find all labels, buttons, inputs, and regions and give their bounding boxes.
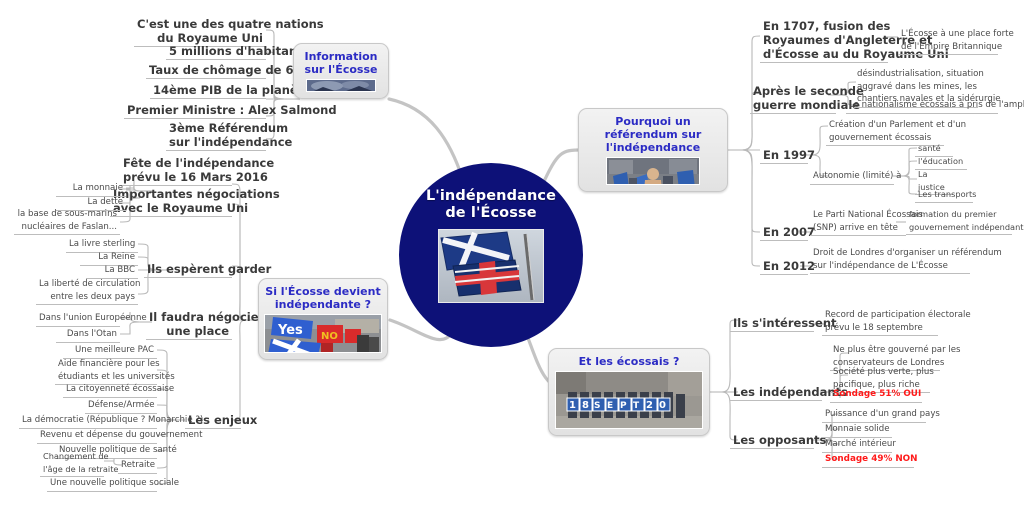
node-marche-interieur[interactable]: Marché intérieur: [822, 438, 892, 453]
yes-no-placards-photo-icon: Yes NO: [264, 314, 382, 353]
node-base-sous-marins[interactable]: la base de sous-marins nucléaires de Fas…: [14, 208, 120, 235]
topic-referendum-title: Pourquoi un référendum sur l'indépendanc…: [585, 115, 721, 154]
node-autonomie-limitee[interactable]: Autonomie (limité) à: [810, 170, 894, 185]
node-changement-age-retraite[interactable]: Changement de l'âge de la retraite: [40, 450, 104, 477]
node-citoyennete-ecossaise[interactable]: La citoyenneté écossaise: [63, 383, 157, 398]
node-les-independants[interactable]: Les indépendants: [730, 385, 822, 401]
node-defense-armee[interactable]: Défense/Armée: [85, 399, 157, 414]
node-snp-arrive-en-tete[interactable]: Le Parti National Écossais (SNP) arrive …: [810, 209, 906, 236]
mind-map-canvas: L'indépendance de l'Écosse: [0, 0, 1024, 507]
node-retraite[interactable]: Retraite: [118, 459, 157, 474]
svg-text:NO: NO: [321, 331, 338, 342]
svg-text:0: 0: [659, 400, 666, 411]
central-topic[interactable]: L'indépendance de l'Écosse: [399, 163, 583, 347]
svg-text:1: 1: [569, 400, 576, 411]
18-sept-2014-signs-photo-icon: 1 8 S E P T 2 0: [555, 371, 703, 429]
topic-information-title-text: Information sur l'Écosse: [305, 50, 378, 76]
topic-ecossais-title: Et les écossais ?: [579, 355, 680, 368]
topic-referendum-title-line2: l'indépendance: [606, 141, 700, 154]
node-la-democratie[interactable]: La démocratie (République ? Monarchie ?): [19, 414, 157, 429]
node-14eme-pib[interactable]: 14ème PIB de la planète: [150, 83, 266, 99]
node-quatre-nations[interactable]: C'est une des quatre nations du Royaume …: [134, 17, 266, 47]
node-5-millions-habitants[interactable]: 5 millions d'habitants: [166, 44, 266, 60]
node-formation-premier-gouvernement[interactable]: formation du premier gouvernement indépe…: [906, 208, 1012, 235]
node-revenu-depense[interactable]: Revenu et dépense du gouvernement: [37, 429, 157, 444]
node-3eme-referendum[interactable]: 3ème Référendum sur l'indépendance: [166, 121, 266, 151]
topic-information-sur-lecosse[interactable]: Information sur l'Écosse: [293, 43, 389, 99]
node-monnaie-solide[interactable]: Monnaie solide: [822, 423, 892, 438]
node-union-europeenne[interactable]: Dans l'union Européenne: [36, 312, 120, 327]
svg-text:E: E: [607, 401, 613, 411]
node-en-1707[interactable]: En 1707, fusion des Royaumes d'Angleterr…: [760, 19, 888, 63]
node-sondage-51-oui[interactable]: Sondage 51% OUI: [830, 388, 922, 403]
topic-ecossais-title-text: Et les écossais ?: [579, 355, 680, 368]
topic-independante-title-line2: indépendante ?: [275, 298, 371, 311]
node-la-bbc[interactable]: La BBC: [86, 264, 138, 279]
node-droit-de-londres[interactable]: Droit de Londres d'organiser un référend…: [810, 247, 970, 274]
node-en-2007[interactable]: En 2007: [760, 225, 808, 241]
node-place-forte-empire[interactable]: L'Écosse à une place forte de l'Empire B…: [898, 28, 998, 55]
node-liberte-circulation[interactable]: La liberté de circulation entre les deux…: [36, 278, 138, 305]
node-nouvelle-politique-sociale[interactable]: Une nouvelle politique sociale: [47, 477, 157, 492]
node-sondage-49-non[interactable]: Sondage 49% NON: [822, 453, 914, 468]
node-importantes-negociations[interactable]: Importantes négociations avec le Royaume…: [110, 187, 232, 217]
node-aide-financiere[interactable]: Aide financière pour les étudiants et le…: [55, 358, 157, 385]
node-ils-sinteressent[interactable]: Ils s'intéressent: [730, 316, 814, 332]
yes-rally-photo-icon: [606, 157, 700, 185]
topic-si-lecosse-devient-independante[interactable]: Si l'Écosse devient indépendante ? Yes N…: [258, 278, 388, 360]
central-topic-line1: L'indépendance: [426, 188, 556, 204]
node-taux-chomage[interactable]: Taux de chômage de 6,4%: [146, 63, 266, 79]
node-record-participation[interactable]: Record de participation électorale prévu…: [822, 309, 938, 336]
node-nationalisme-ampleur[interactable]: Le nationalisme écossais à pris de l'amp…: [846, 99, 998, 114]
central-topic-line2: de l'Écosse: [445, 205, 536, 221]
topic-pourquoi-un-referendum[interactable]: Pourquoi un référendum sur l'indépendanc…: [578, 108, 728, 192]
node-apres-seconde-guerre[interactable]: Après le seconde guerre mondiale: [750, 84, 836, 114]
topic-independante-title: Si l'Écosse devient indépendante ?: [265, 285, 380, 311]
svg-text:8: 8: [582, 400, 589, 411]
central-topic-image: [438, 229, 544, 303]
node-puissance-grand-pays[interactable]: Puissance d'un grand pays: [822, 408, 926, 423]
node-les-transports[interactable]: Les transports: [915, 188, 973, 203]
node-meilleure-pac[interactable]: Une meilleure PAC: [63, 344, 157, 359]
topic-information-title: Information sur l'Écosse: [300, 50, 382, 76]
node-la-monnaie[interactable]: La monnaie: [56, 182, 126, 197]
node-dans-lotan[interactable]: Dans l'Otan: [56, 328, 120, 343]
topic-referendum-title-line1: Pourquoi un référendum sur: [605, 115, 702, 141]
node-en-2012[interactable]: En 2012: [760, 259, 808, 275]
topic-independante-title-line1: Si l'Écosse devient: [265, 285, 380, 298]
node-il-faudra-negocier[interactable]: Il faudra négocier une place: [146, 310, 232, 340]
svg-text:T: T: [633, 401, 640, 411]
node-premier-ministre[interactable]: Premier Ministre : Alex Salmond: [124, 103, 266, 119]
node-les-opposants[interactable]: Les opposants: [730, 433, 814, 449]
node-ils-esperent-garder[interactable]: Ils espèrent garder: [144, 262, 232, 278]
node-en-1997[interactable]: En 1997: [760, 148, 808, 164]
svg-text:Yes: Yes: [277, 323, 303, 338]
castle-photo-icon: [306, 79, 376, 92]
node-fete-independance[interactable]: Fête de l'indépendance prévu le 16 Mars …: [120, 156, 232, 186]
topic-et-les-ecossais[interactable]: Et les écossais ?: [548, 348, 710, 436]
svg-text:2: 2: [646, 400, 653, 411]
svg-text:S: S: [594, 401, 600, 411]
central-topic-title: L'indépendance de l'Écosse: [426, 188, 556, 222]
svg-text:P: P: [620, 401, 627, 411]
